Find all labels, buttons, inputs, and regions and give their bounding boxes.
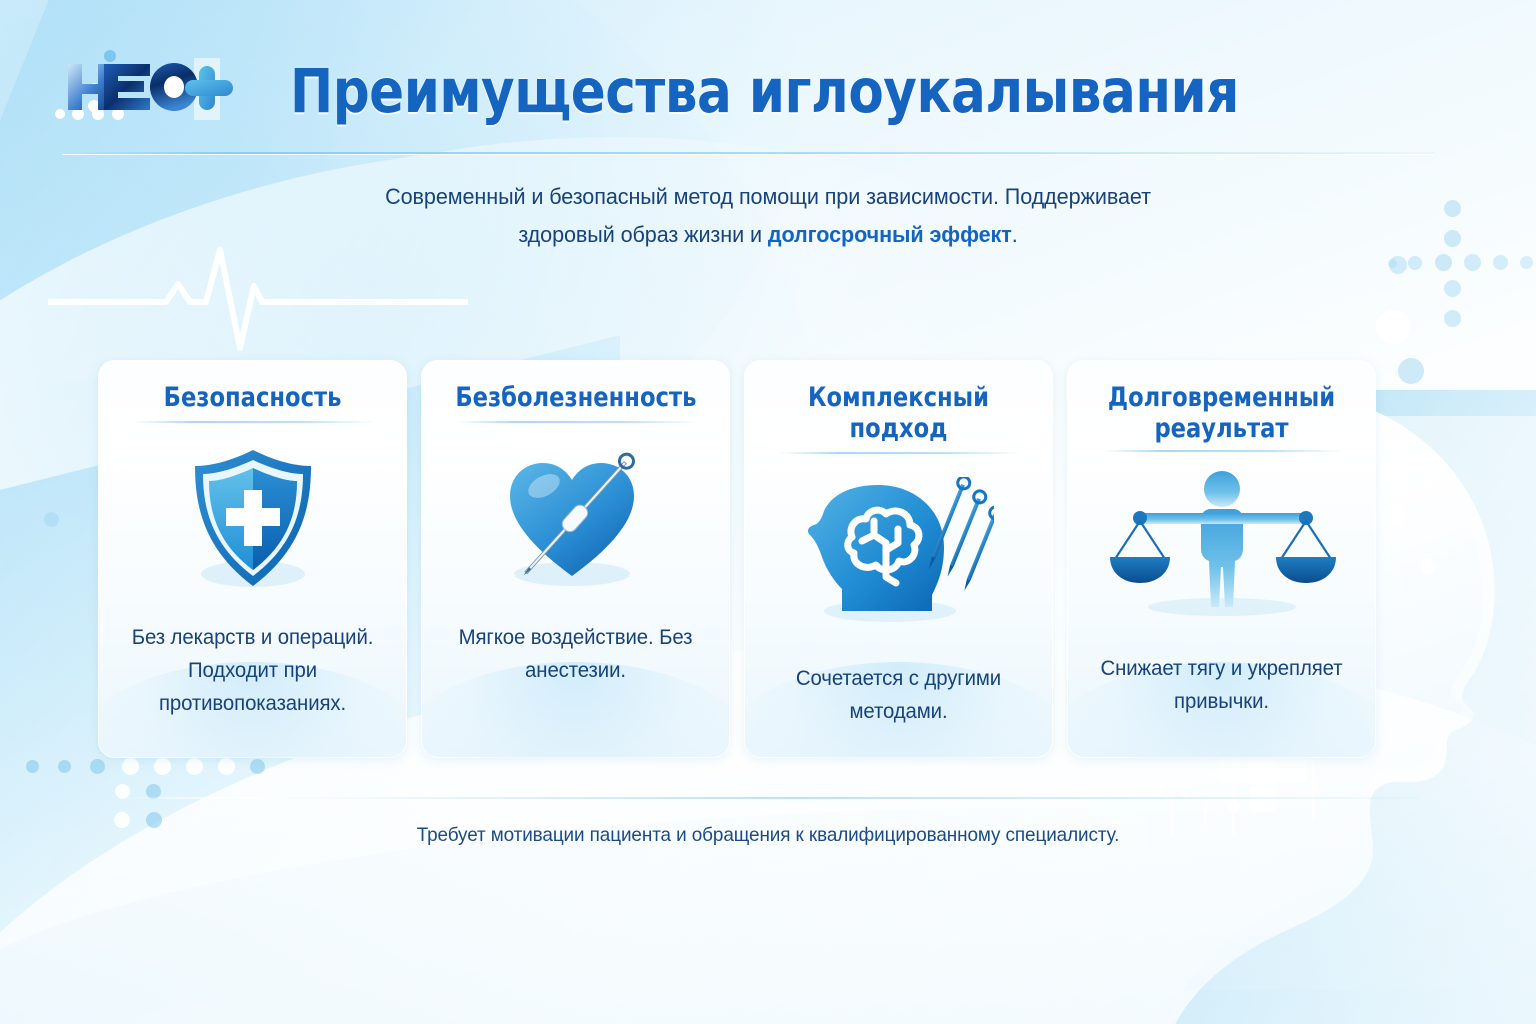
benefit-cards: Безопасность [98, 360, 1376, 758]
card-text: Мягкое воздействие. Без анестезии. [439, 621, 712, 687]
head-brain-needles-icon [804, 468, 994, 636]
footer-note: Требует мотивации пациента и обращения к… [23, 824, 1513, 847]
ecg-pulse-line [48, 236, 468, 356]
card-title: Комплексный подход [765, 382, 1032, 444]
shield-cross-icon [189, 437, 317, 605]
balance-scales-person-icon [1107, 458, 1337, 626]
header: Преимущества иглоукалывания [0, 0, 1536, 152]
heart-needle-icon [498, 437, 654, 605]
benefit-card-long-term-result[interactable]: Долговременный реаультат [1067, 360, 1376, 758]
footer-divider [118, 797, 1418, 799]
decorative-circle-6 [44, 512, 59, 527]
card-title: Безопасность [164, 382, 342, 413]
benefit-card-complex-approach[interactable]: Комплексный подход [744, 360, 1053, 758]
subtitle: Современный и безопасный метод помощи пр… [288, 178, 1248, 254]
decorative-circle-3 [1420, 558, 1436, 574]
card-divider [1102, 450, 1341, 452]
card-divider [133, 421, 372, 423]
card-title: Безболезненность [455, 382, 696, 413]
card-text: Снижает тягу и укрепляет привычки. [1085, 652, 1358, 718]
card-divider [779, 452, 1018, 454]
card-divider [456, 421, 695, 423]
header-divider [62, 152, 1434, 154]
decorative-circle-1 [1384, 505, 1406, 527]
decorative-circle-7 [1228, 800, 1240, 812]
page-title: Преимущества иглоукалывания [290, 56, 1239, 127]
subtitle-line-1: Современный и безопасный метод помощи пр… [385, 184, 1151, 209]
card-text: Без лекарств и операций. Подходит при пр… [116, 621, 389, 720]
brand-logo [46, 44, 258, 130]
benefit-card-painless[interactable]: Безболезненность [421, 360, 730, 758]
subtitle-highlight: долгосрочный эффект [768, 222, 1012, 247]
background-band-bottom [0, 770, 1536, 1024]
infographic-poster: Преимущества иглоукалывания Современный … [0, 0, 1536, 1024]
card-text: Сочетается с другими методами. [762, 662, 1035, 728]
decorative-circle-2 [1398, 358, 1424, 384]
benefit-card-safety[interactable]: Безопасность [98, 360, 407, 758]
decorative-circle-5 [1389, 256, 1407, 274]
subtitle-line-2-suffix: . [1012, 222, 1018, 247]
subtitle-line-2-prefix: здоровый образ жизни и [518, 222, 767, 247]
decorative-circle-4 [1376, 310, 1410, 344]
card-title: Долговременный реаультат [1088, 382, 1355, 444]
